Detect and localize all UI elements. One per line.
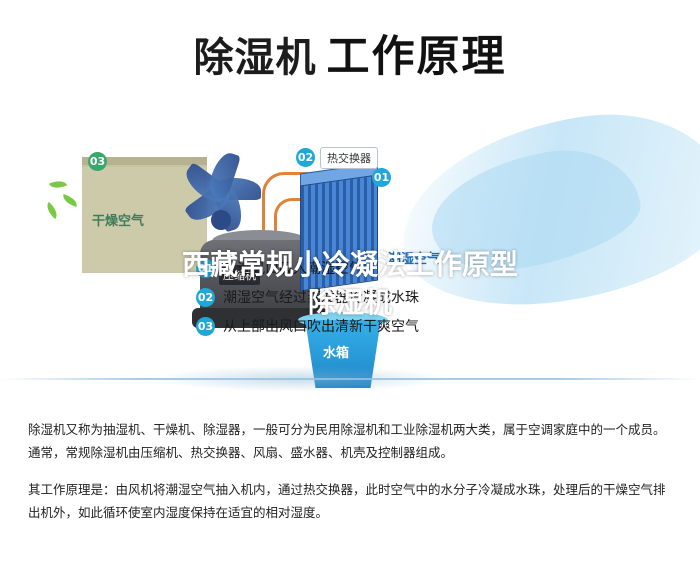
leaf-icon [49, 177, 67, 192]
title-part-1: 除湿机 [194, 35, 317, 81]
body-text: 除湿机又称为抽湿机、干燥机、除湿器，一般可分为民用除湿机和工业除湿机两大类，属于… [28, 418, 672, 539]
leaf-icon [61, 194, 79, 207]
leaf-icon [43, 202, 61, 219]
paragraph-1: 除湿机又称为抽湿机、干燥机、除湿器，一般可分为民用除湿机和工业除湿机两大类，属于… [28, 418, 672, 464]
heat-exchanger-badge: 02 [296, 148, 315, 167]
list-item: 02 潮湿空气经过蒸发器冷凝成水珠 [196, 287, 666, 307]
step-text: 从上部出风口吹出清新干爽空气 [223, 316, 419, 336]
steps-list: 01 从进风口吸入潮湿空气 02 潮湿空气经过蒸发器冷凝成水珠 03 从上部出风… [196, 258, 666, 345]
wet-air-badge: 01 [372, 168, 391, 187]
list-item: 03 从上部出风口吹出清新干爽空气 [196, 316, 666, 336]
step-badge: 03 [196, 317, 215, 336]
paragraph-2: 其工作原理是：由风机将潮湿空气抽入机内，通过热交换器，此时空气中的水分子冷凝成水… [28, 478, 672, 524]
step-text: 潮湿空气经过蒸发器冷凝成水珠 [223, 287, 419, 307]
step-badge: 01 [196, 259, 215, 278]
title-part-2: 工作原理 [327, 32, 507, 82]
step-text: 从进风口吸入潮湿空气 [223, 258, 363, 278]
page-root: 除湿机工作原理 03 干燥空气 压缩机 02 [0, 0, 700, 566]
heat-exchanger-tag: 热交换器 [320, 147, 378, 169]
ground-line [0, 378, 700, 380]
step-badge: 02 [196, 288, 215, 307]
list-item: 01 从进风口吸入潮湿空气 [196, 258, 666, 278]
dry-air-label: 干燥空气 [92, 210, 144, 229]
dry-air-badge: 03 [88, 152, 107, 171]
page-title: 除湿机工作原理 [0, 22, 700, 84]
